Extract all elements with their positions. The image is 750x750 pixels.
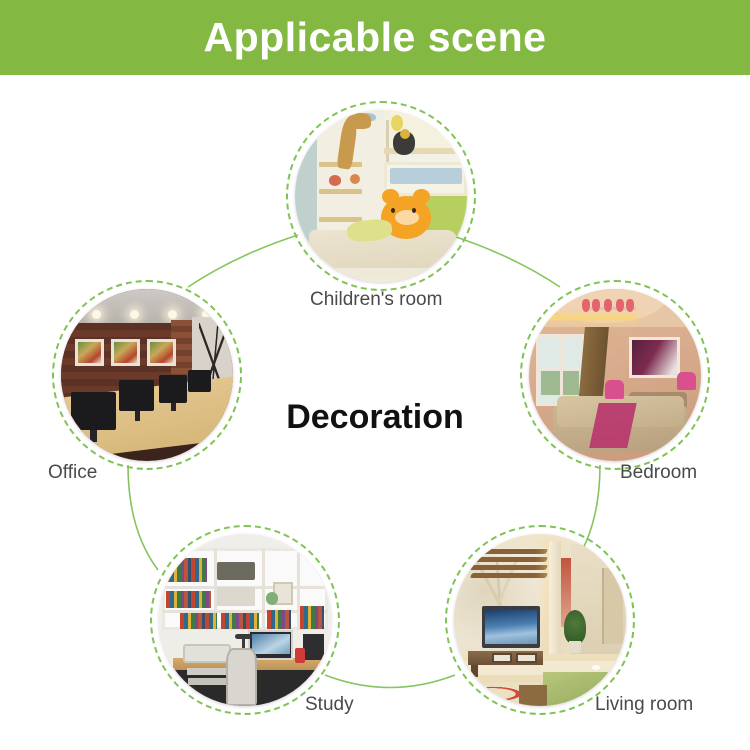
label-living-room: Living room <box>595 695 693 714</box>
label-bedroom: Bedroom <box>620 463 697 482</box>
label-office: Office <box>48 463 97 482</box>
node-bedroom[interactable] <box>520 280 710 470</box>
node-living-room[interactable] <box>445 525 635 715</box>
children-room-ring <box>286 101 476 291</box>
scene-diagram: Children's room <box>0 75 750 750</box>
office-ring <box>52 280 242 470</box>
bedroom-ring <box>520 280 710 470</box>
diagram-center-label: Decoration <box>0 400 750 434</box>
node-children-room[interactable] <box>286 101 476 291</box>
node-study[interactable] <box>150 525 340 715</box>
label-study: Study <box>305 695 354 714</box>
page-title: Applicable scene <box>204 17 547 58</box>
label-children-room: Children's room <box>310 290 442 309</box>
header-banner: Applicable scene <box>0 0 750 75</box>
node-office[interactable] <box>52 280 242 470</box>
study-ring <box>150 525 340 715</box>
living-room-ring <box>445 525 635 715</box>
page-root: Applicable scene <box>0 0 750 750</box>
